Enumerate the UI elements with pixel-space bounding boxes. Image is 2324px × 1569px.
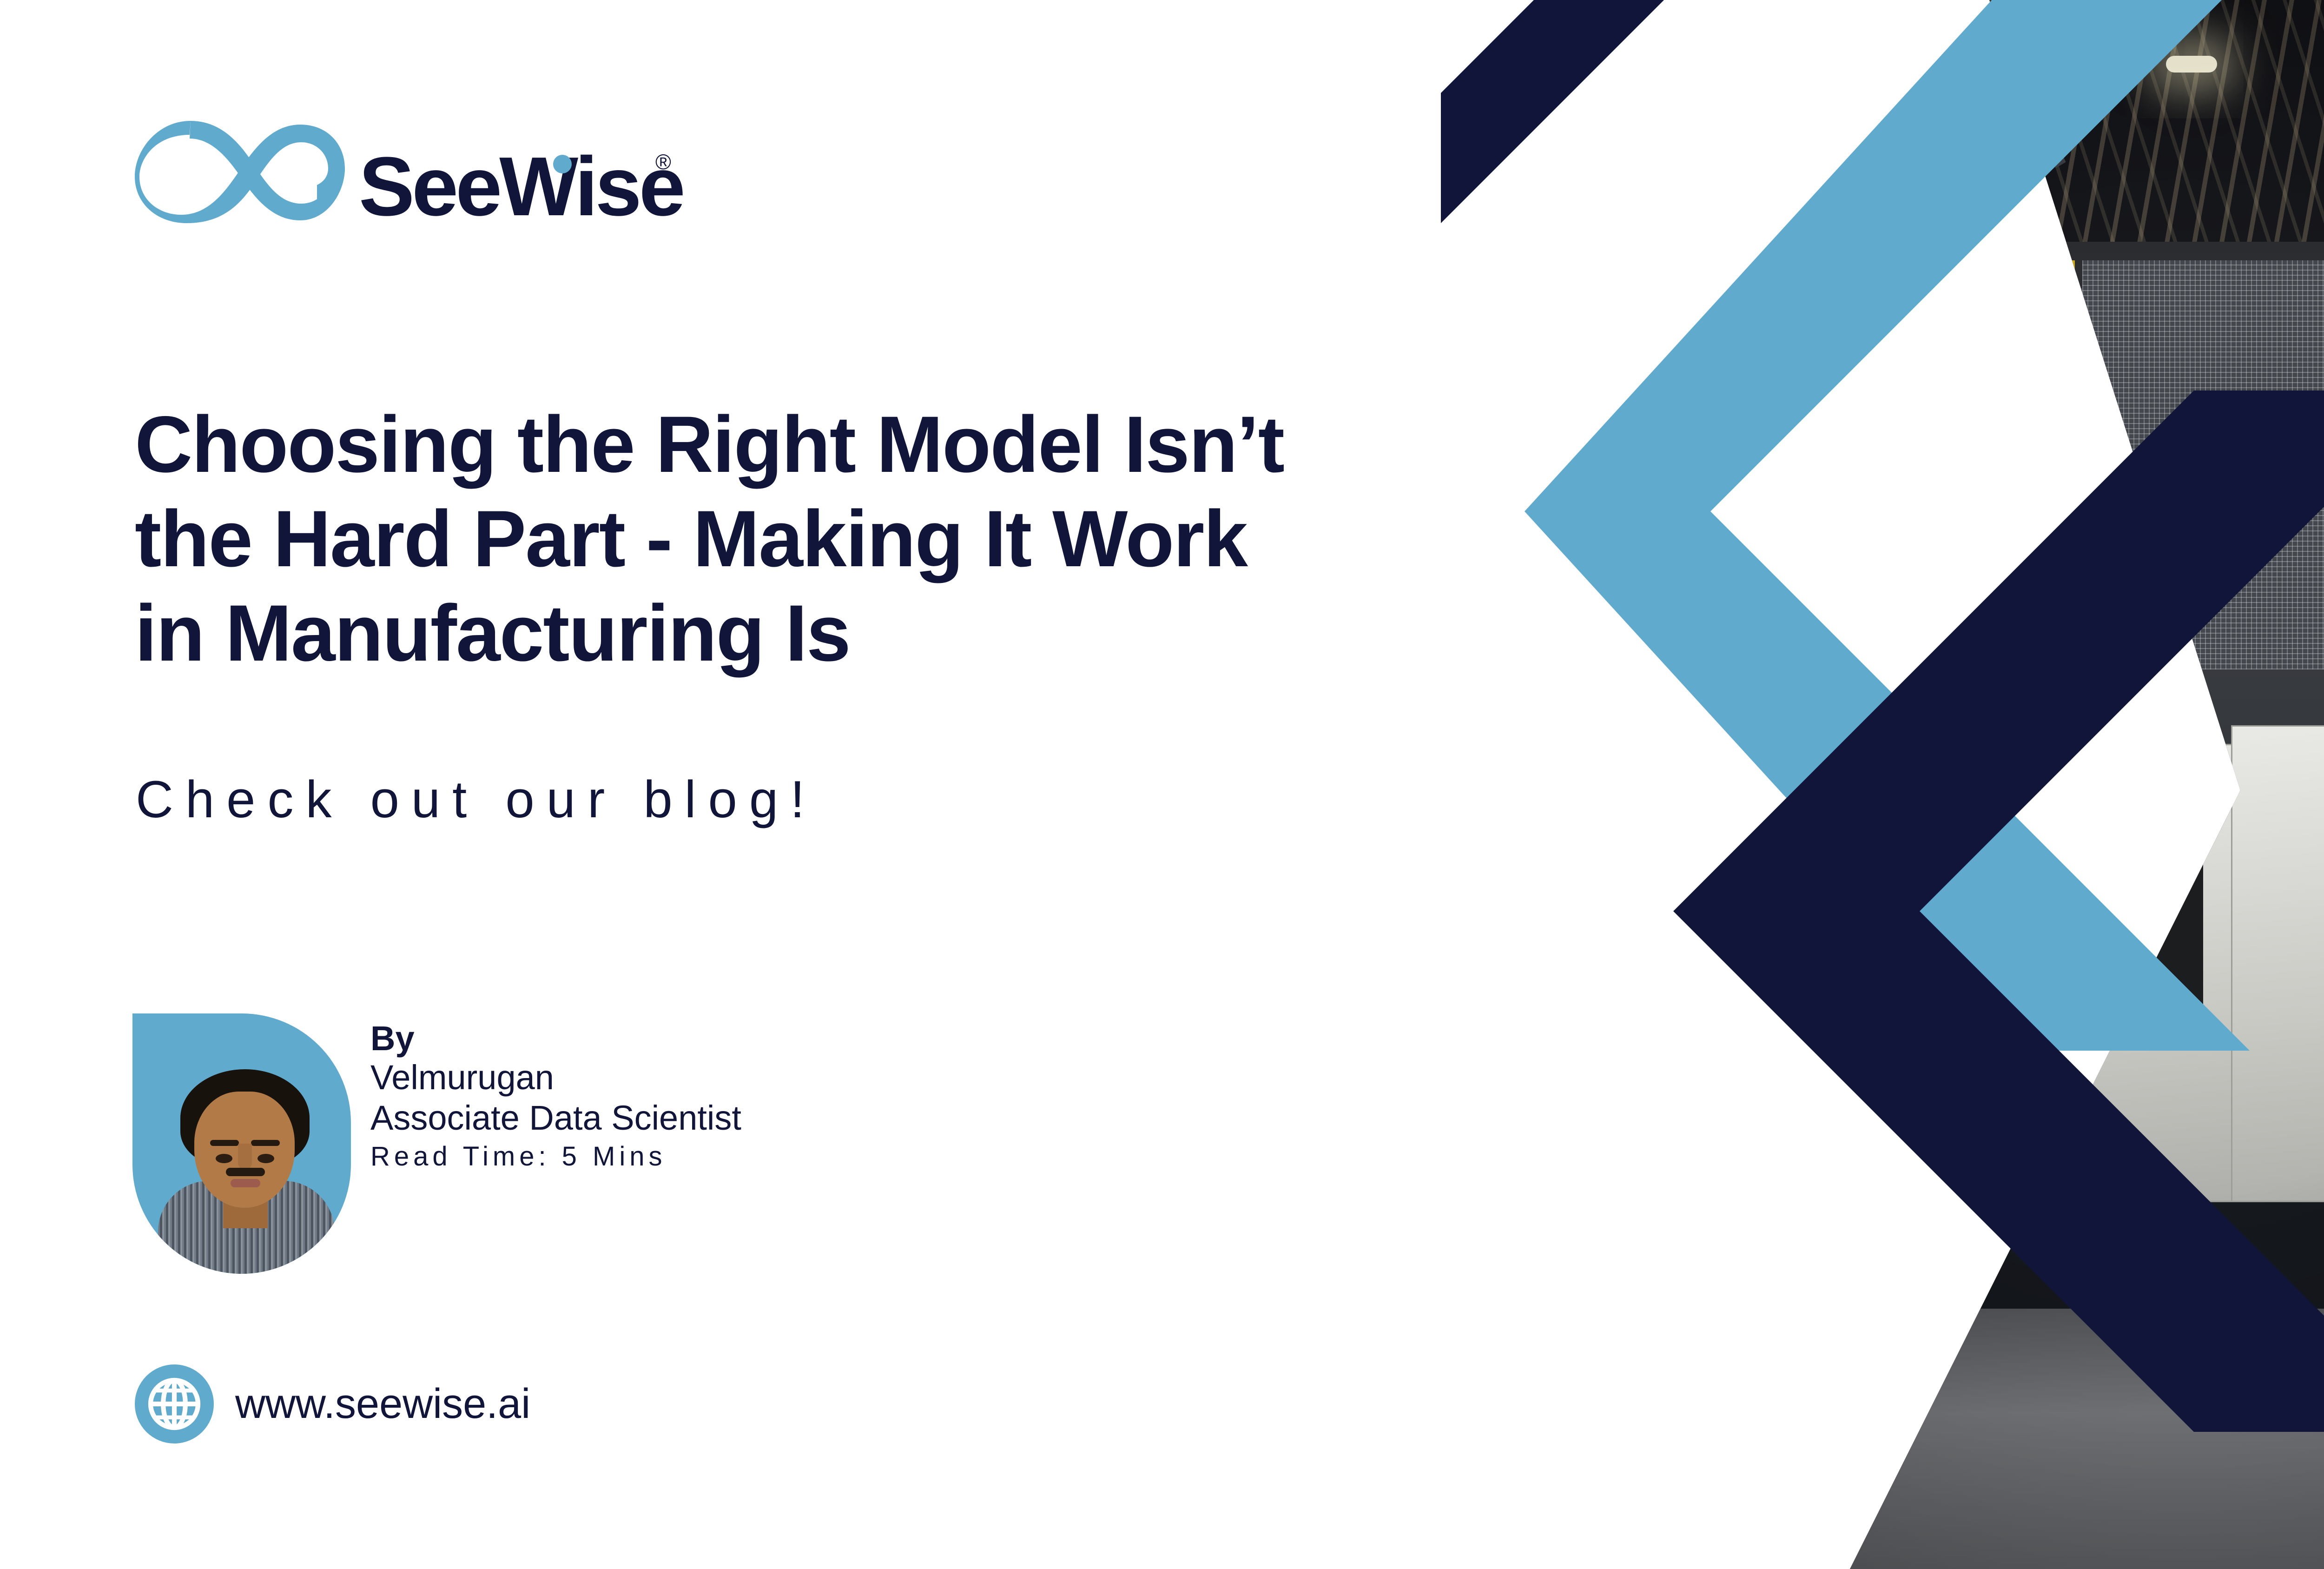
- avatar-lips: [231, 1179, 260, 1187]
- read-time: Read Time: 5 Mins: [370, 1139, 741, 1175]
- brand-wordmark: SeeWise ®: [359, 151, 683, 223]
- author-role: Associate Data Scientist: [370, 1098, 741, 1138]
- avatar-portrait: [158, 1069, 335, 1274]
- photo-robot-brand-label: KUKA: [1899, 486, 1960, 577]
- infinity-loop-icon: [135, 116, 349, 223]
- headline-line-1: Choosing the Right Model Isn’t: [135, 397, 1473, 492]
- avatar: [132, 1013, 351, 1274]
- author-block: By Velmurugan Associate Data Scientist R…: [132, 1013, 741, 1274]
- brand-logo[interactable]: SeeWise ®: [135, 116, 683, 223]
- cta-text[interactable]: Check out our blog!: [136, 769, 817, 829]
- author-details: By Velmurugan Associate Data Scientist R…: [370, 1013, 741, 1175]
- page-title: Choosing the Right Model Isn’t the Hard …: [135, 397, 1473, 681]
- avatar-background-shape: [132, 1013, 351, 1274]
- avatar-nose: [238, 1144, 252, 1170]
- headline-line-2: the Hard Part - Making It Work: [135, 492, 1473, 586]
- author-name: Velmurugan: [370, 1057, 741, 1098]
- blog-promo-poster: KR120 KUKA: [0, 0, 2324, 1569]
- author-by-label: By: [370, 1020, 741, 1057]
- registered-mark: ®: [655, 153, 668, 172]
- avatar-eye: [257, 1154, 274, 1163]
- avatar-eyebrow: [251, 1140, 280, 1146]
- brand-i-dot: [553, 155, 572, 173]
- avatar-eyebrow: [210, 1140, 239, 1146]
- headline-line-3: in Manufacturing Is: [135, 586, 1473, 681]
- globe-icon: [135, 1364, 214, 1443]
- avatar-moustache: [226, 1168, 265, 1176]
- avatar-eye: [216, 1154, 232, 1163]
- photo-ceiling-lamp: [1701, 98, 1757, 117]
- website-footer[interactable]: www.seewise.ai: [135, 1364, 530, 1443]
- brand-name-text: SeeWise: [359, 140, 683, 233]
- artwork-panel: KR120 KUKA: [1441, 0, 2324, 1569]
- site-url-text[interactable]: www.seewise.ai: [235, 1380, 530, 1428]
